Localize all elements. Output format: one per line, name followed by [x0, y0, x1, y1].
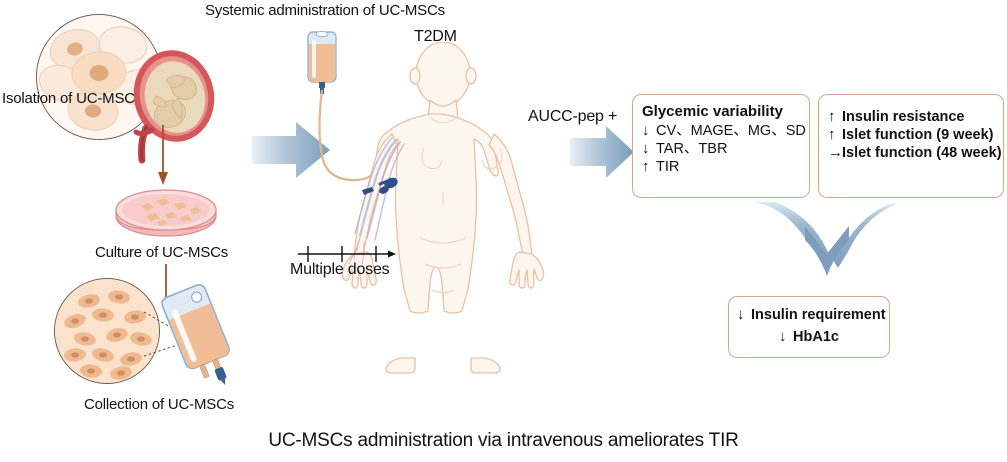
multiple-doses-timeline-icon: [296, 242, 398, 262]
final-outcome-box: ↓ Insulin requirement ↓ HbA1c: [728, 296, 890, 358]
multiple-doses-label: Multiple doses: [290, 261, 389, 279]
petri-dish-icon: [112, 186, 220, 242]
up-arrow-glyph: ↑: [642, 158, 656, 176]
glycemic-line-3-text: TIR: [656, 158, 679, 176]
glycemic-line-1: ↓ CV、MAGE、MG、SD: [642, 122, 800, 140]
culture-label: Culture of UC-MSCs: [95, 244, 228, 261]
outcome-line-2-text: HbA1c: [793, 328, 839, 346]
right-arrow-glyph: →: [828, 144, 842, 162]
down-arrow-glyph: ↓: [737, 306, 751, 324]
down-arrow-icon: [155, 125, 171, 187]
figure-caption: UC-MSCs administration via intravenous a…: [0, 430, 1007, 452]
glycemic-line-3: ↑ TIR: [642, 158, 800, 176]
t2dm-label: T2DM: [414, 28, 457, 46]
insulin-line-1-text: Insulin resistance: [842, 108, 965, 126]
glycemic-box-title: Glycemic variability: [642, 102, 800, 122]
glycemic-variability-box: Glycemic variability ↓ CV、MAGE、MG、SD ↓ T…: [632, 94, 810, 198]
glycemic-line-1-text: CV、MAGE、MG、SD: [656, 122, 806, 140]
systemic-administration-label: Systemic administration of UC-MSCs: [205, 2, 445, 19]
outcome-line-2: ↓ HbA1c: [737, 328, 881, 346]
right-block-arrow-icon: [570, 124, 636, 180]
isolation-label: Isolation of UC-MSCs: [2, 90, 142, 107]
insulin-line-3-text: Islet function (48 week): [842, 144, 1002, 162]
down-arrow-glyph: ↓: [779, 328, 793, 346]
outcome-line-1: ↓ Insulin requirement: [737, 306, 881, 324]
glycemic-line-2-text: TAR、TBR: [656, 140, 727, 158]
glycemic-line-2: ↓ TAR、TBR: [642, 140, 800, 158]
down-arrow-glyph: ↓: [642, 140, 656, 158]
up-arrow-glyph: ↑: [828, 108, 842, 126]
outcome-line-1-text: Insulin requirement: [751, 306, 886, 324]
insulin-line-2-text: Islet function (9 week): [842, 126, 993, 144]
down-arrow-glyph: ↓: [642, 122, 656, 140]
converging-down-arrow-icon: [745, 200, 895, 300]
human-body-t2dm-icon: [320, 42, 560, 407]
insulin-line-3: → Islet function (48 week): [828, 144, 994, 162]
up-arrow-glyph: ↑: [828, 126, 842, 144]
scientific-figure: Isolation of UC-MSCs: [0, 0, 1007, 462]
insulin-line-2: ↑ Islet function (9 week): [828, 126, 994, 144]
insulin-islet-box: ↑ Insulin resistance ↑ Islet function (9…: [818, 94, 1004, 198]
placenta-umbilical-cord-icon: [126, 44, 218, 169]
iv-collection-bag-icon: [158, 280, 240, 390]
insulin-line-1: ↑ Insulin resistance: [828, 108, 994, 126]
collection-label: Collection of UC-MSCs: [84, 396, 234, 413]
